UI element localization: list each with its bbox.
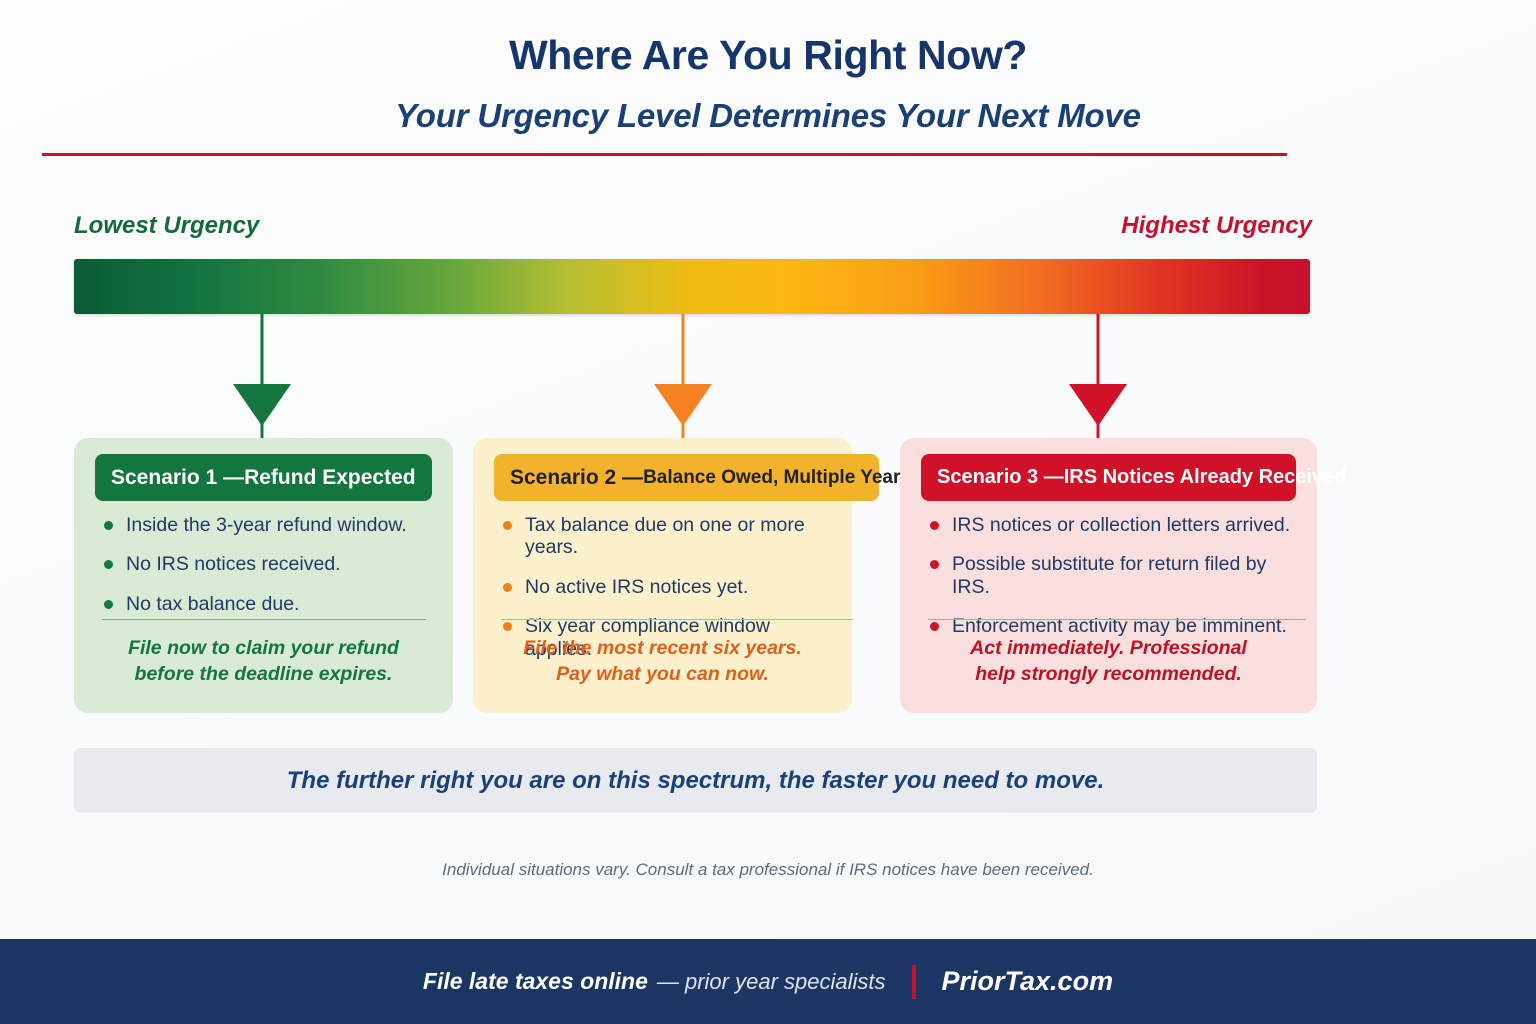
action-line-2: Pay what you can now. bbox=[491, 662, 834, 688]
scenario-card-1-bullets: Inside the 3-year refund window. No IRS … bbox=[104, 514, 435, 632]
scenario-card-2-header: Scenario 2 — Balance Owed, Multiple Year… bbox=[494, 454, 879, 501]
list-item: No IRS notices received. bbox=[104, 553, 435, 575]
scenario-card-2[interactable]: Scenario 2 — Balance Owed, Multiple Year… bbox=[473, 438, 852, 713]
page-subtitle: Your Urgency Level Determines Your Next … bbox=[0, 97, 1536, 135]
list-item: Tax balance due on one or more years. bbox=[503, 514, 834, 559]
scenario-card-3-header-lead: Scenario 3 — bbox=[937, 466, 1064, 489]
bullet-text: No tax balance due. bbox=[126, 593, 299, 615]
scenario-card-3-divider bbox=[928, 619, 1306, 620]
infographic-canvas: Where Are You Right Now? Your Urgency Le… bbox=[0, 0, 1536, 1024]
bullet-dot-icon bbox=[930, 622, 939, 631]
bullet-text: Inside the 3-year refund window. bbox=[126, 514, 407, 536]
bullet-dot-icon bbox=[104, 560, 113, 569]
scenario-card-2-header-lead: Scenario 2 — bbox=[510, 466, 643, 490]
bullet-dot-icon bbox=[930, 521, 939, 530]
footer-tagline-light: — prior year specialists bbox=[657, 969, 886, 995]
bullet-text: Possible substitute for return filed by … bbox=[952, 553, 1299, 598]
spectrum-low-label: Lowest Urgency bbox=[74, 212, 259, 240]
spectrum-high-label: Highest Urgency bbox=[1121, 212, 1312, 240]
summary-banner: The further right you are on this spectr… bbox=[74, 748, 1317, 813]
action-line-1: File now to claim your refund bbox=[92, 636, 435, 662]
list-item: Possible substitute for return filed by … bbox=[930, 553, 1299, 598]
bullet-dot-icon bbox=[503, 521, 512, 530]
action-line-1: File the most recent six years. bbox=[491, 636, 834, 662]
action-line-1: Act immediately. Professional bbox=[918, 636, 1299, 662]
connector-scenario-3 bbox=[1069, 314, 1127, 444]
footer-bar: File late taxes online — prior year spec… bbox=[0, 939, 1536, 1024]
scenario-card-1-header-rest: Refund Expected bbox=[244, 466, 416, 490]
urgency-spectrum-bar bbox=[74, 259, 1310, 314]
connector-stem-icon bbox=[261, 314, 264, 386]
bullet-dot-icon bbox=[503, 583, 512, 592]
scenario-card-3-header: Scenario 3 — IRS Notices Already Receive… bbox=[921, 454, 1296, 501]
arrow-down-icon bbox=[1069, 384, 1127, 426]
scenario-card-3-header-rest: IRS Notices Already Received bbox=[1064, 466, 1347, 489]
scenario-card-3[interactable]: Scenario 3 — IRS Notices Already Receive… bbox=[900, 438, 1317, 713]
action-line-2: before the deadline expires. bbox=[92, 662, 435, 688]
bullet-text: Tax balance due on one or more years. bbox=[525, 514, 834, 559]
arrow-down-icon bbox=[654, 384, 712, 426]
action-line-2: help strongly recommended. bbox=[918, 662, 1299, 688]
scenario-card-1[interactable]: Scenario 1 — Refund Expected Inside the … bbox=[74, 438, 453, 713]
bullet-dot-icon bbox=[104, 521, 113, 530]
disclaimer-text: Individual situations vary. Consult a ta… bbox=[0, 860, 1536, 880]
bullet-text: IRS notices or collection letters arrive… bbox=[952, 514, 1290, 536]
bullet-dot-icon bbox=[503, 622, 512, 631]
summary-text: The further right you are on this spectr… bbox=[287, 767, 1104, 795]
scenario-card-1-header-lead: Scenario 1 — bbox=[111, 466, 244, 490]
scenario-card-1-action: File now to claim your refund before the… bbox=[92, 636, 435, 687]
bullet-text: No IRS notices received. bbox=[126, 553, 341, 575]
footer-brand[interactable]: PriorTax.com bbox=[942, 966, 1114, 997]
connector-stem-icon bbox=[1097, 314, 1100, 386]
page-title: Where Are You Right Now? bbox=[0, 32, 1536, 79]
scenario-card-2-action: File the most recent six years. Pay what… bbox=[491, 636, 834, 687]
arrow-down-icon bbox=[233, 384, 291, 426]
title-divider-rule bbox=[42, 153, 1287, 156]
scenario-card-2-divider bbox=[501, 619, 853, 620]
footer-divider bbox=[912, 965, 916, 999]
connector-stem-icon bbox=[682, 314, 685, 386]
list-item: No tax balance due. bbox=[104, 593, 435, 615]
scenario-card-3-action: Act immediately. Professional help stron… bbox=[918, 636, 1299, 687]
bullet-text: No active IRS notices yet. bbox=[525, 576, 748, 598]
list-item: Inside the 3-year refund window. bbox=[104, 514, 435, 536]
list-item: IRS notices or collection letters arrive… bbox=[930, 514, 1299, 536]
connector-scenario-1 bbox=[233, 314, 291, 444]
connector-scenario-2 bbox=[654, 314, 712, 444]
footer-tagline-bold: File late taxes online bbox=[423, 968, 648, 995]
bullet-dot-icon bbox=[104, 600, 113, 609]
bullet-dot-icon bbox=[930, 560, 939, 569]
list-item: No active IRS notices yet. bbox=[503, 576, 834, 598]
scenario-card-1-divider bbox=[102, 619, 426, 620]
scenario-card-1-header: Scenario 1 — Refund Expected bbox=[95, 454, 432, 501]
scenario-card-3-bullets: IRS notices or collection letters arrive… bbox=[930, 514, 1299, 655]
